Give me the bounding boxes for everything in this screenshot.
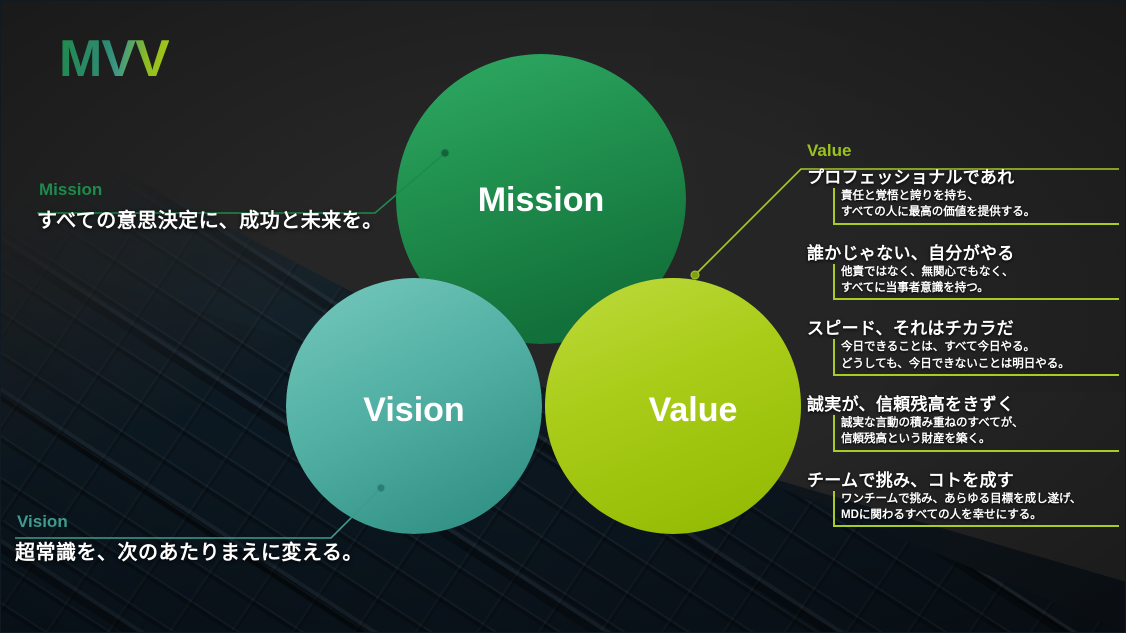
- value-item-description: ワンチームで挑み、あらゆる目標を成し遂げ、MDに関わるすべての人を幸せにする。: [833, 491, 1119, 528]
- value-item-description: 他責ではなく、無関心でもなく、すべてに当事者意識を持つ。: [833, 264, 1119, 301]
- value-item-title: スピード、それはチカラだ: [797, 314, 1119, 339]
- value-item-description: 責任と覚悟と誇りを持ち、すべての人に最高の価値を提供する。: [833, 188, 1119, 225]
- value-item: プロフェッショナルであれ責任と覚悟と誇りを持ち、すべての人に最高の価値を提供する…: [797, 163, 1119, 225]
- value-item: 誰かじゃない、自分がやる他責ではなく、無関心でもなく、すべてに当事者意識を持つ。: [797, 239, 1119, 301]
- value-item-description-line: 他責ではなく、無関心でもなく、: [841, 264, 1119, 280]
- value-item-title: 誰かじゃない、自分がやる: [797, 239, 1119, 264]
- value-item-description-line: すべての人に最高の価値を提供する。: [841, 204, 1119, 220]
- callout-vision: Vision 超常識を、次のあたりまえに変える。: [15, 513, 735, 565]
- value-item: スピード、それはチカラだ今日できることは、すべて今日やる。どうしても、今日できな…: [797, 314, 1119, 376]
- value-item: チームで挑み、コトを成すワンチームで挑み、あらゆる目標を成し遂げ、MDに関わるす…: [797, 466, 1119, 528]
- slide-canvas: MVV: [0, 0, 1126, 633]
- value-panel-category: Value: [797, 141, 1119, 161]
- value-item-title: プロフェッショナルであれ: [797, 163, 1119, 188]
- venn-label-vision: Vision: [363, 391, 464, 429]
- value-item-description-line: すべてに当事者意識を持つ。: [841, 280, 1119, 296]
- callout-mission-text: すべての意思決定に、成功と未来を。: [37, 204, 737, 233]
- value-item-list: プロフェッショナルであれ責任と覚悟と誇りを持ち、すべての人に最高の価値を提供する…: [797, 163, 1119, 527]
- callout-mission-category: Mission: [37, 181, 737, 200]
- value-item-title: チームで挑み、コトを成す: [797, 466, 1119, 491]
- callout-vision-category: Vision: [15, 513, 735, 532]
- value-item-description-line: ワンチームで挑み、あらゆる目標を成し遂げ、: [841, 491, 1119, 507]
- value-item-description: 誠実な言動の積み重ねのすべてが、信頼残高という財産を築く。: [833, 415, 1119, 452]
- value-item-description-line: 信頼残高という財産を築く。: [841, 431, 1119, 447]
- callout-mission: Mission すべての意思決定に、成功と未来を。: [37, 181, 737, 233]
- value-item-description-line: 今日できることは、すべて今日やる。: [841, 339, 1119, 355]
- value-item-description-line: MDに関わるすべての人を幸せにする。: [841, 507, 1119, 523]
- value-item-description: 今日できることは、すべて今日やる。どうしても、今日できないことは明日やる。: [833, 339, 1119, 376]
- venn-label-value: Value: [649, 391, 738, 429]
- value-item-description-line: 誠実な言動の積み重ねのすべてが、: [841, 415, 1119, 431]
- value-panel: Value プロフェッショナルであれ責任と覚悟と誇りを持ち、すべての人に最高の価…: [797, 141, 1119, 528]
- callout-vision-text: 超常識を、次のあたりまえに変える。: [15, 536, 735, 565]
- value-item-description-line: どうしても、今日できないことは明日やる。: [841, 356, 1119, 372]
- value-item-title: 誠実が、信頼残高をきずく: [797, 390, 1119, 415]
- value-item: 誠実が、信頼残高をきずく誠実な言動の積み重ねのすべてが、信頼残高という財産を築く…: [797, 390, 1119, 452]
- value-item-description-line: 責任と覚悟と誇りを持ち、: [841, 188, 1119, 204]
